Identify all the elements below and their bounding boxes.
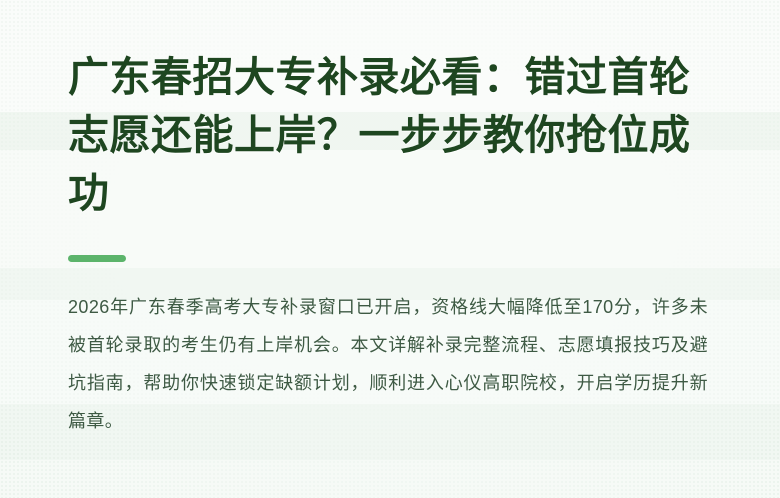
page-title: 广东春招大专补录必看：错过首轮志愿还能上岸？一步步教你抢位成功 xyxy=(68,48,716,222)
article-content: 广东春招大专补录必看：错过首轮志愿还能上岸？一步步教你抢位成功 2026年广东春… xyxy=(68,0,728,498)
article-card: 广东春招大专补录必看：错过首轮志愿还能上岸？一步步教你抢位成功 2026年广东春… xyxy=(0,0,780,498)
title-divider xyxy=(68,255,126,262)
article-summary: 2026年广东春季高考大专补录窗口已开启，资格线大幅降低至170分，许多未被首轮… xyxy=(68,288,708,440)
